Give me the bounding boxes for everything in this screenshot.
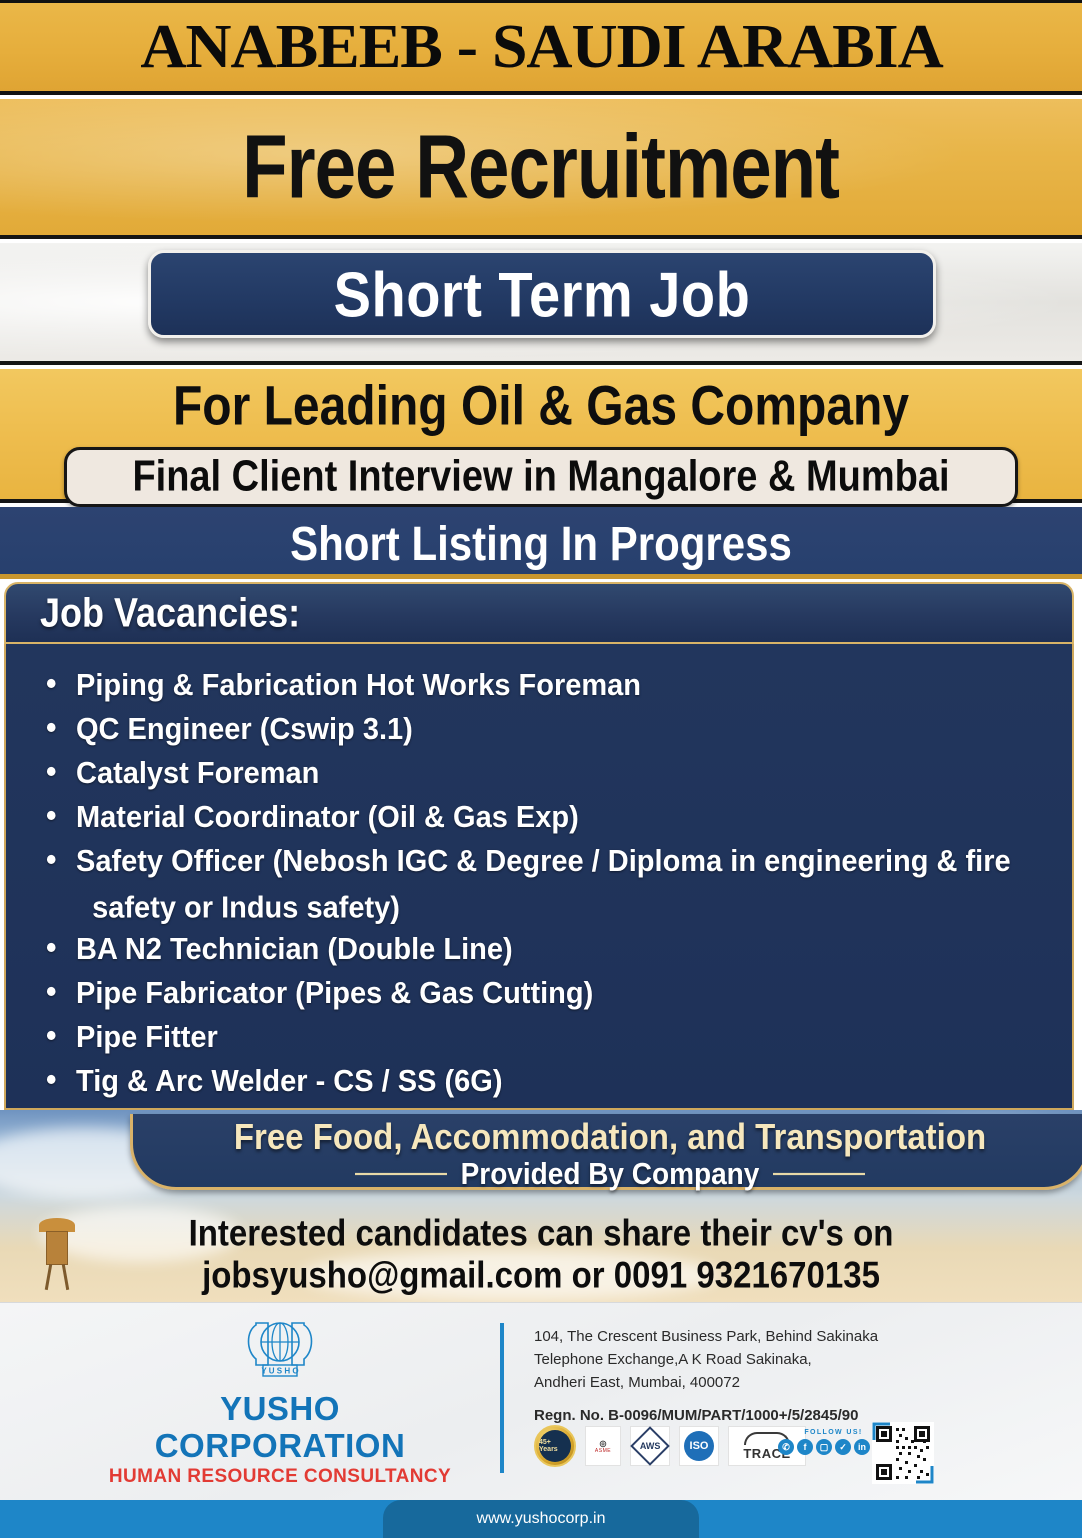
interview-label: Final Client Interview in Mangalore & Mu… — [132, 452, 949, 501]
job-type-pill: Short Term Job — [148, 250, 936, 338]
status-label: Short Listing In Progress — [290, 516, 792, 571]
call-to-action: Interested candidates can share their cv… — [0, 1212, 1082, 1296]
job-type-label: Short Term Job — [334, 258, 751, 331]
industry-label: For Leading Oil & Gas Company — [0, 375, 1082, 439]
yusho-globe-logo-icon: Y U S H O — [238, 1317, 322, 1379]
vacancies-title: Job Vacancies: — [6, 589, 300, 636]
company-name: ANABEEB - SAUDI ARABIA — [140, 12, 942, 83]
aws-label: AWS — [640, 1441, 661, 1451]
vacancies-body: Piping & Fabrication Hot Works ForemanQC… — [4, 644, 1074, 1110]
cta-line-2: jobsyusho@gmail.com or 0091 9321670135 — [0, 1251, 1082, 1298]
vacancies-header: Job Vacancies: — [4, 582, 1074, 644]
vacancy-list: Piping & Fabrication Hot Works ForemanQC… — [34, 662, 1054, 1102]
vacancy-item: Pipe Fabricator (Pipes & Gas Cutting) — [34, 970, 1054, 1017]
address-line-2: Telephone Exchange,A K Road Sakinaka, — [534, 1348, 964, 1371]
address-line-3: Andheri East, Mumbai, 400072 — [534, 1371, 964, 1394]
vacancy-item: Tig & Arc Welder - CS / SS (6G) — [34, 1058, 1054, 1105]
vacancy-item: Piping & Fabrication Hot Works Foreman — [34, 662, 1054, 709]
svg-text:Y U S H O: Y U S H O — [261, 1367, 298, 1376]
website-tab[interactable]: www.yushocorp.in — [383, 1500, 699, 1538]
years-seal-label: 45+ Years — [539, 1430, 571, 1462]
website-url: www.yushocorp.in — [477, 1510, 606, 1528]
benefits-line-1: Free Food, Accommodation, and Transporta… — [133, 1116, 1082, 1158]
benefits-line-2: Provided By Company — [461, 1156, 760, 1191]
company-logo-block: Y U S H O YUSHO CORPORATION HUMAN RESOUR… — [100, 1317, 460, 1488]
headline-text: Free Recruitment — [243, 116, 840, 219]
qr-code[interactable] — [872, 1422, 934, 1484]
aws-badge-icon: AWS — [630, 1426, 670, 1466]
company-tagline: HUMAN RESOURCE CONSULTANCY — [100, 1466, 460, 1488]
twitter-icon[interactable]: ✓ — [835, 1439, 851, 1455]
headline-band: Free Recruitment — [0, 99, 1082, 239]
whatsapp-icon[interactable]: ✆ — [778, 1439, 794, 1455]
vacancy-item: Catalyst Foreman — [34, 750, 1054, 797]
status-band: Short Listing In Progress — [0, 507, 1082, 579]
cta-line-1: Interested candidates can share their cv… — [0, 1209, 1082, 1256]
vacancy-item: BA N2 Technician (Double Line) — [34, 926, 1054, 973]
linkedin-icon[interactable]: in — [854, 1439, 870, 1455]
company-name-line-1: YUSHO — [100, 1390, 460, 1427]
facebook-icon[interactable]: f — [797, 1439, 813, 1455]
vacancy-item: Safety Officer (Nebosh IGC & Degree / Di… — [34, 838, 1054, 931]
recruitment-poster: ANABEEB - SAUDI ARABIA Free Recruitment … — [0, 0, 1082, 1538]
company-title-band: ANABEEB - SAUDI ARABIA — [0, 0, 1082, 95]
company-name-line-2: CORPORATION — [100, 1427, 460, 1464]
vacancy-item: Material Coordinator (Oil & Gas Exp) — [34, 794, 1054, 841]
asme-label: ASME — [595, 1448, 611, 1454]
certification-badges: 45+ Years ◎ASME AWS ISO TRACE — [534, 1425, 806, 1467]
years-seal-icon: 45+ Years — [534, 1425, 576, 1467]
vacancy-item: QC Engineer (Cswip 3.1) — [34, 706, 1054, 753]
interview-pill: Final Client Interview in Mangalore & Mu… — [64, 447, 1018, 507]
instagram-icon[interactable]: ▢ — [816, 1439, 832, 1455]
benefits-box: Free Food, Accommodation, and Transporta… — [130, 1114, 1082, 1190]
footer-divider — [500, 1323, 504, 1473]
iso-badge-icon: ISO — [679, 1426, 719, 1466]
address-line-1: 104, The Crescent Business Park, Behind … — [534, 1325, 964, 1348]
iso-label: ISO — [690, 1440, 709, 1452]
asme-badge-icon: ◎ASME — [585, 1426, 621, 1466]
vacancy-item: Pipe Fitter — [34, 1014, 1054, 1061]
address-block: 104, The Crescent Business Park, Behind … — [534, 1325, 964, 1427]
vacancies-panel: Job Vacancies: Piping & Fabrication Hot … — [0, 582, 1078, 1114]
